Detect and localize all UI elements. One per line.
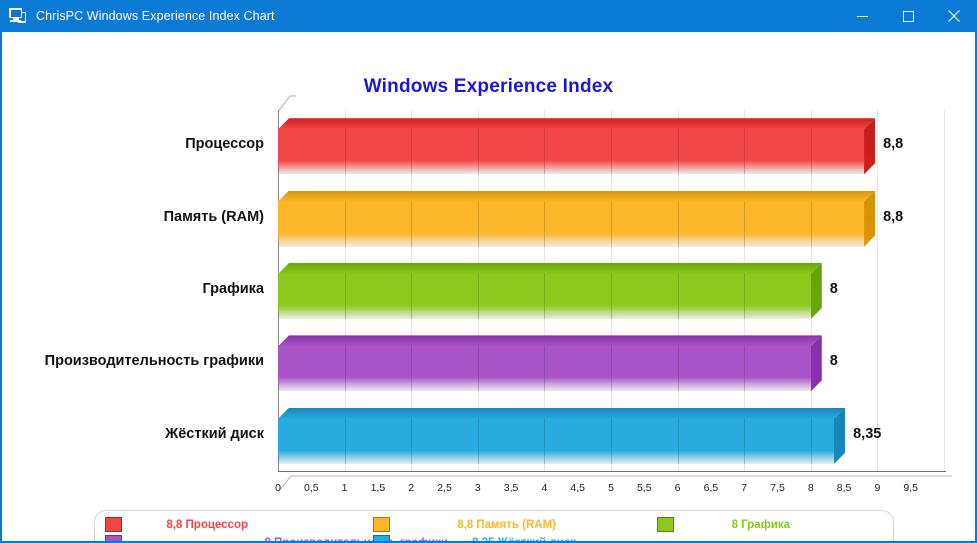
- x-tick-label: 2,5: [437, 482, 452, 494]
- legend-label: 8 Графика: [680, 519, 790, 531]
- x-tick-label: 4,5: [570, 482, 585, 494]
- x-tick-label: 7,5: [770, 482, 785, 494]
- x-tick-label: 9,5: [903, 482, 918, 494]
- bar-1[interactable]: [278, 118, 875, 174]
- y-axis-label-2: Память (RAM): [164, 209, 264, 225]
- bar-grid-segment: [345, 418, 346, 464]
- bar-grid-segment: [611, 273, 612, 319]
- bar-front-face: [278, 273, 812, 319]
- x-tick-label: 1: [342, 482, 348, 494]
- bar-grid-segment: [345, 201, 346, 247]
- legend-label: 8,8 Память (RAM): [396, 519, 556, 531]
- legend-swatch: [105, 535, 122, 541]
- x-tick-label: 6,5: [704, 482, 719, 494]
- bar-grid-segment: [411, 201, 412, 247]
- bar-grid-segment: [611, 418, 612, 464]
- bar-grid-segment: [345, 273, 346, 319]
- bar-front-face: [278, 128, 865, 174]
- bar-front-face: [278, 345, 812, 391]
- bar-grid-segment: [544, 273, 545, 319]
- maximize-button[interactable]: [885, 0, 931, 32]
- bar-grid-segment: [478, 128, 479, 174]
- bar-grid-segment: [744, 201, 745, 247]
- computer-monitor-icon: [9, 7, 27, 25]
- bar-grid-segment: [544, 201, 545, 247]
- legend-swatch: [657, 517, 674, 532]
- minimize-button[interactable]: [839, 0, 885, 32]
- bar-grid-segment: [611, 345, 612, 391]
- bar-grid-segment: [544, 418, 545, 464]
- x-tick-label: 1,5: [371, 482, 386, 494]
- bar-grid-segment: [811, 418, 812, 464]
- x-axis-tick-labels: 00,511,522,533,544,555,566,577,588,599,5: [270, 482, 960, 502]
- x-tick-label: 4: [541, 482, 547, 494]
- close-button[interactable]: [931, 0, 977, 32]
- legend-label: 8,35 Жёсткий диск: [396, 537, 576, 542]
- legend-swatch: [105, 517, 122, 532]
- x-tick-label: 8: [808, 482, 814, 494]
- x-tick-label: 5: [608, 482, 614, 494]
- x-tick-label: 3: [475, 482, 481, 494]
- bar-value-label: 8,8: [883, 209, 903, 225]
- x-tick-label: 6: [675, 482, 681, 494]
- legend-item-1[interactable]: 8,8 Процессор: [105, 517, 248, 532]
- bar-5[interactable]: [278, 408, 845, 464]
- x-tick-label: 2: [408, 482, 414, 494]
- x-tick-label: 5,5: [637, 482, 652, 494]
- window-title: ChrisPC Windows Experience Index Chart: [36, 9, 275, 23]
- bar-value-label: 8: [830, 281, 838, 297]
- legend-label: 8,8 Процессор: [128, 519, 248, 531]
- bar-grid-segment: [611, 128, 612, 174]
- chart-content-area: Windows Experience Index ПроцессорПамять…: [2, 32, 975, 541]
- bar-grid-segment: [411, 418, 412, 464]
- bar-grid-segment: [345, 128, 346, 174]
- bar-grid-segment: [678, 418, 679, 464]
- y-axis-category-labels: ПроцессорПамять (RAM)ГрафикаПроизводител…: [2, 102, 264, 480]
- bar-grid-segment: [611, 201, 612, 247]
- x-tick-label: 3,5: [504, 482, 519, 494]
- bar-grid-segment: [678, 273, 679, 319]
- x-tick-label: 9: [874, 482, 880, 494]
- bar-grid-segment: [744, 273, 745, 319]
- bar-grid-segment: [811, 128, 812, 174]
- bar-grid-segment: [345, 345, 346, 391]
- x-tick-label: 0,5: [304, 482, 319, 494]
- bar-grid-segment: [411, 128, 412, 174]
- bar-grid-segment: [678, 201, 679, 247]
- y-axis-label-3: Графика: [202, 281, 264, 297]
- x-tick-label: 0: [275, 482, 281, 494]
- bar-grid-segment: [744, 418, 745, 464]
- y-axis-label-1: Процессор: [185, 136, 264, 152]
- legend-swatch: [373, 517, 390, 532]
- x-tick-label: 8,5: [837, 482, 852, 494]
- bar-3[interactable]: [278, 263, 822, 319]
- bar-value-label: 8: [830, 353, 838, 369]
- y-axis-label-5: Жёсткий диск: [165, 426, 264, 442]
- chart-title: Windows Experience Index: [2, 76, 975, 98]
- bar-value-label: 8,8: [883, 136, 903, 152]
- bar-grid-segment: [478, 201, 479, 247]
- bar-series-group: 8,88,8888,35: [278, 110, 946, 472]
- bar-grid-segment: [478, 273, 479, 319]
- bar-front-face: [278, 418, 835, 464]
- bar-grid-segment: [544, 345, 545, 391]
- bar-2[interactable]: [278, 191, 875, 247]
- legend-swatch: [373, 535, 390, 541]
- bar-front-face: [278, 201, 865, 247]
- title-bar: ChrisPC Windows Experience Index Chart: [0, 0, 977, 32]
- bar-grid-segment: [811, 201, 812, 247]
- bar-value-label: 8,35: [853, 426, 881, 442]
- bar-grid-segment: [411, 273, 412, 319]
- bar-grid-segment: [678, 345, 679, 391]
- bar-grid-segment: [744, 345, 745, 391]
- legend-item-3[interactable]: 8 Графика: [657, 517, 790, 532]
- bar-grid-segment: [478, 418, 479, 464]
- bar-grid-segment: [544, 128, 545, 174]
- bar-grid-segment: [744, 128, 745, 174]
- bar-grid-segment: [478, 345, 479, 391]
- bar-4[interactable]: [278, 335, 822, 391]
- plot-area: 8,88,8888,35: [270, 102, 946, 480]
- chart-legend: 8,8 Процессор8,8 Память (RAM)8 Графика8 …: [94, 510, 894, 541]
- window-controls: [839, 0, 977, 32]
- application-window: ChrisPC Windows Experience Index Chart W…: [0, 0, 977, 543]
- legend-item-5[interactable]: 8,35 Жёсткий диск: [373, 535, 576, 541]
- x-tick-label: 7: [741, 482, 747, 494]
- bar-grid-segment: [411, 345, 412, 391]
- bar-grid-segment: [678, 128, 679, 174]
- y-axis-label-4: Производительность графики: [45, 353, 264, 369]
- legend-item-2[interactable]: 8,8 Память (RAM): [373, 517, 556, 532]
